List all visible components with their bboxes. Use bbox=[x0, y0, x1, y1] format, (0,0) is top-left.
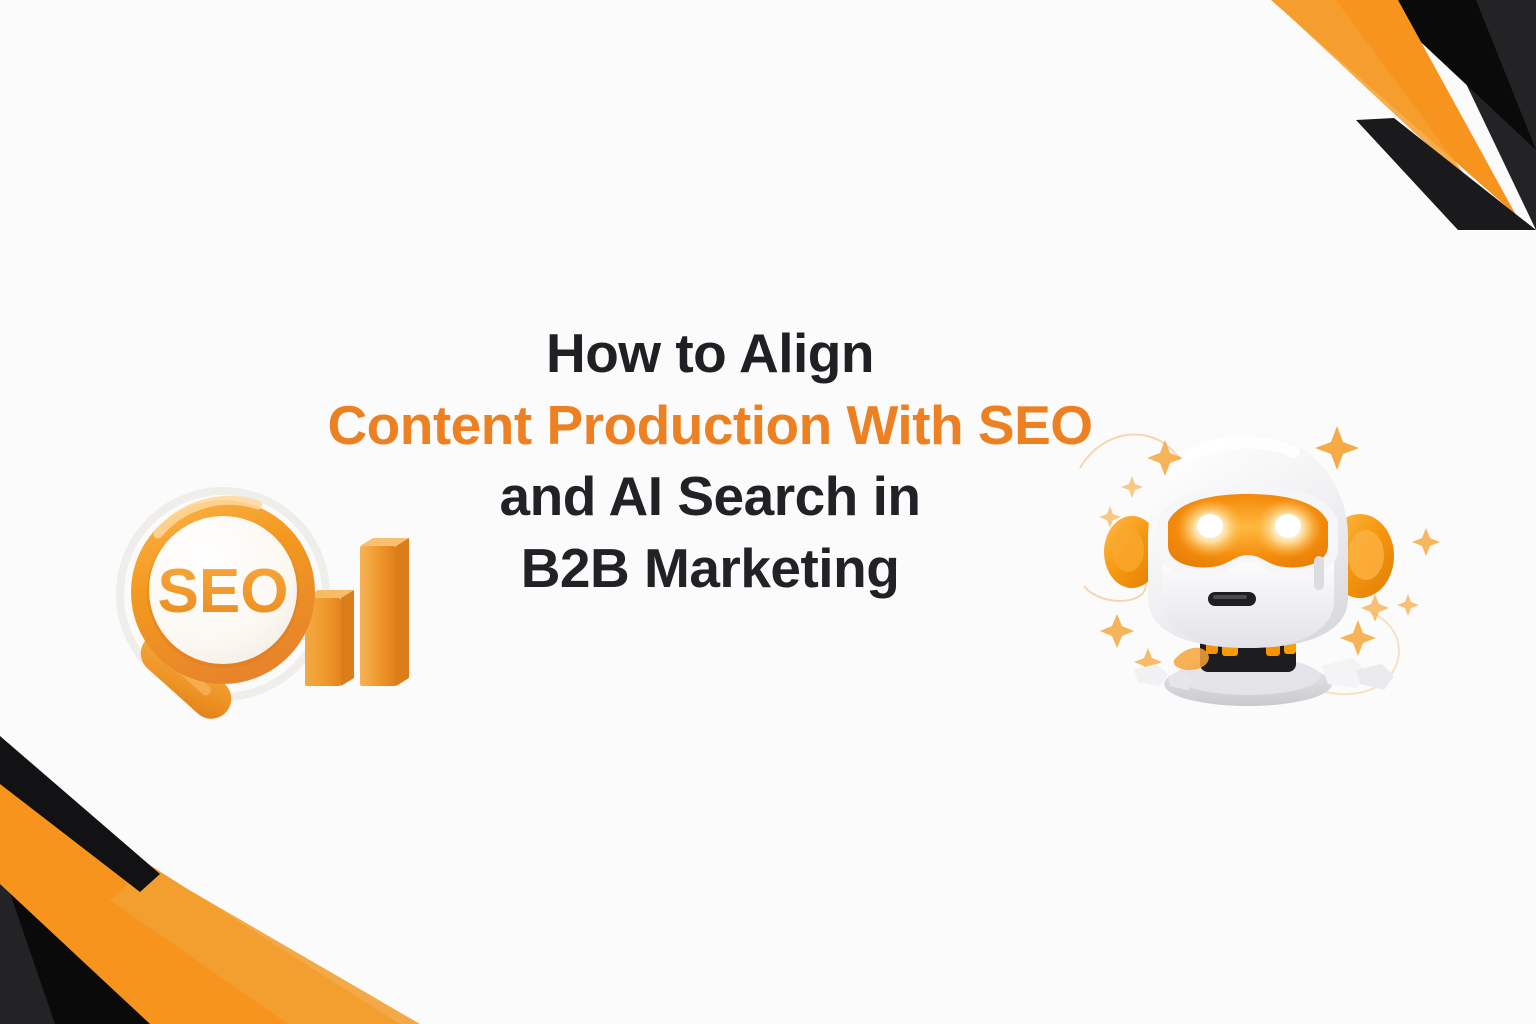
corner-bl-orange-light-wedge bbox=[110, 866, 420, 1024]
corner-tr-orange-light-wedge bbox=[1272, 0, 1476, 190]
bar-short-side bbox=[341, 590, 354, 686]
headline-line-4: B2B Marketing bbox=[170, 533, 1250, 605]
corner-bl-orange-wedge bbox=[0, 770, 400, 1024]
corner-bl-black-wedge bbox=[0, 736, 165, 1024]
corner-decoration-top-right bbox=[1176, 0, 1536, 230]
corner-tr-black-wedge bbox=[1376, 0, 1536, 150]
corner-tr-orange-wedge bbox=[1271, 0, 1516, 215]
corner-decoration-bottom-left bbox=[0, 724, 420, 1024]
banner-canvas: SEO bbox=[0, 0, 1536, 1024]
headline-line-1: How to Align bbox=[170, 318, 1250, 390]
corner-tr-black-sliver bbox=[1356, 118, 1536, 230]
corner-bl-dark-gray-wedge bbox=[0, 814, 110, 1024]
robot-side-vent bbox=[1314, 556, 1324, 590]
robot-eye-right-core bbox=[1275, 514, 1301, 538]
headline-line-3: and AI Search in bbox=[170, 461, 1250, 533]
corner-bl-black-sliver bbox=[0, 736, 160, 892]
headline-block: How to Align Content Production With SEO… bbox=[170, 318, 1250, 604]
headline-line-2-highlight: Content Production With SEO bbox=[170, 390, 1250, 462]
corner-tr-dark-gray-wedge bbox=[1426, 0, 1536, 230]
